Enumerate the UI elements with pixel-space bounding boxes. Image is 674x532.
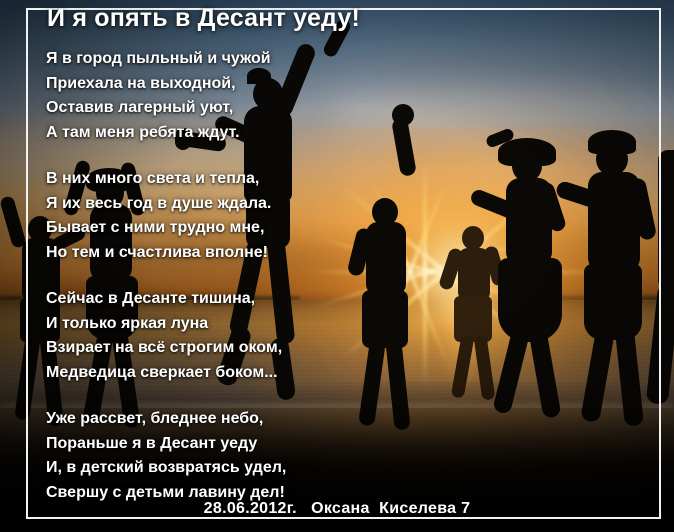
- poem-body: Я в город пыльный и чужой Приехала на вы…: [46, 47, 346, 505]
- poem-line: Медведица сверкает боком...: [46, 361, 346, 386]
- poem-stanza: Я в город пыльный и чужой Приехала на вы…: [46, 47, 346, 145]
- poem-line: Я в город пыльный и чужой: [46, 47, 346, 72]
- poem-line: В них много света и тепла,: [46, 167, 346, 192]
- poem-stanza: В них много света и тепла, Я их весь год…: [46, 167, 346, 265]
- page-title: И я опять в Десант уеду!: [47, 4, 360, 33]
- poem-line: И только яркая луна: [46, 312, 346, 337]
- poem-line: Взирает на всё строгим оком,: [46, 336, 346, 361]
- poem-poster: И я опять в Десант уеду! Я в город пыльн…: [0, 0, 674, 532]
- poem-line: И, в детский возвратясь удел,: [46, 456, 346, 481]
- poem-line: Бывает с ними трудно мне,: [46, 216, 346, 241]
- poem-line: Я их весь год в душе ждала.: [46, 192, 346, 217]
- poem-line: Пораньше я в Десант уеду: [46, 432, 346, 457]
- poem-line: Уже рассвет, бледнее небо,: [46, 407, 346, 432]
- poem-line: Сейчас в Десанте тишина,: [46, 287, 346, 312]
- poem-stanza: Сейчас в Десанте тишина, И только яркая …: [46, 287, 346, 385]
- poem-line: Но тем и счастлива вполне!: [46, 241, 346, 266]
- poem-line: Оставив лагерный уют,: [46, 96, 346, 121]
- author-signature: 28.06.2012г. Оксана Киселева 7: [0, 500, 674, 518]
- poem-line: Приехала на выходной,: [46, 72, 346, 97]
- poem-line: А там меня ребята ждут.: [46, 121, 346, 146]
- poem-stanza: Уже рассвет, бледнее небо, Пораньше я в …: [46, 407, 346, 505]
